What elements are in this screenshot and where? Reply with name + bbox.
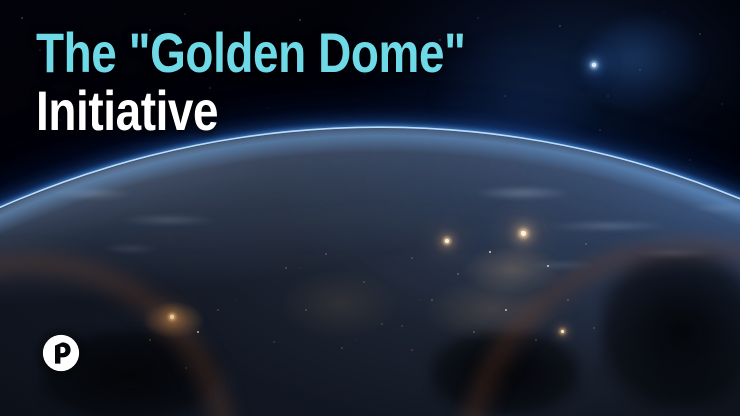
brand-logo[interactable]	[42, 334, 80, 372]
earth-twilight-crescent	[0, 128, 740, 416]
headline-line-1: The "Golden Dome"	[36, 24, 430, 82]
banner-graphic: The "Golden Dome" Initiative	[0, 0, 740, 416]
headline-line-2: Initiative	[36, 82, 430, 140]
page-title: The "Golden Dome" Initiative	[36, 24, 516, 140]
logo-circle-icon	[43, 335, 79, 371]
